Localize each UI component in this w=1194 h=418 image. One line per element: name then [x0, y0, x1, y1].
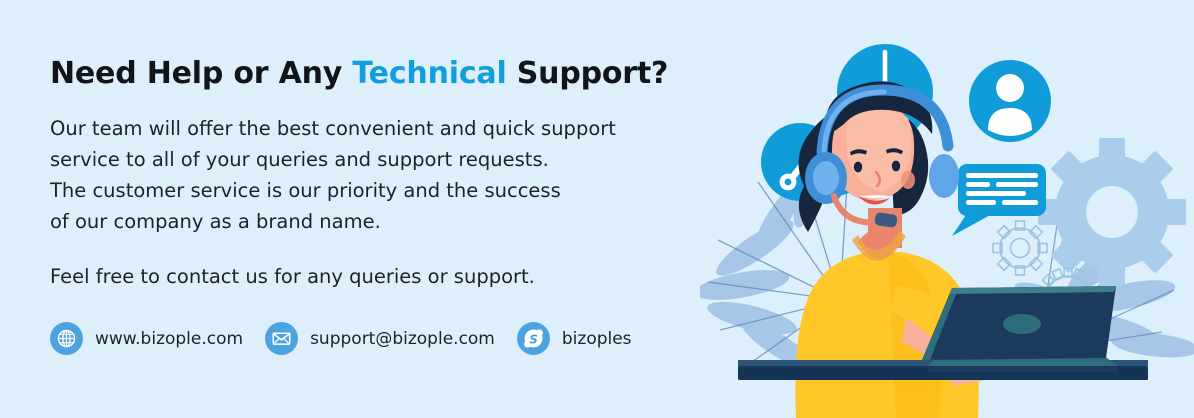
skype-icon: S: [517, 322, 550, 355]
svg-text:S: S: [529, 332, 538, 346]
cta-paragraph: Feel free to contact us for any queries …: [50, 261, 740, 292]
description-paragraph: Our team will offer the best convenient …: [50, 113, 740, 237]
globe-icon: [50, 322, 83, 355]
page-title: Need Help or Any Technical Support?: [50, 56, 740, 91]
description-line-2: service to all of your queries and suppo…: [50, 148, 549, 171]
user-avatar-icon: [969, 60, 1051, 142]
page-title-accent: Technical: [352, 56, 506, 91]
page-title-part1: Need Help or Any: [50, 56, 352, 91]
gear-large-icon: [1038, 138, 1186, 286]
page-title-part2: Support?: [507, 56, 669, 91]
description-line-1: Our team will offer the best convenient …: [50, 117, 616, 140]
illustration-canvas: [700, 0, 1194, 418]
contact-item-website[interactable]: www.bizople.com: [50, 322, 243, 355]
headset-earcup-right: [929, 154, 959, 198]
support-illustration: [700, 0, 1194, 418]
contact-item-email[interactable]: support@bizople.com: [265, 322, 495, 355]
headset-earcup-left-inner: [813, 161, 839, 195]
contact-label-website: www.bizople.com: [95, 329, 243, 349]
contact-label-skype: bizoples: [562, 329, 632, 349]
contact-label-email: support@bizople.com: [310, 329, 495, 349]
laptop-logo: [1003, 314, 1041, 334]
chat-bubble-icon: [952, 164, 1046, 236]
description-line-4: of our company as a brand name.: [50, 210, 381, 233]
gear-small-outline-icon: [993, 221, 1047, 275]
contact-item-skype[interactable]: S bizoples: [517, 322, 632, 355]
support-banner: Need Help or Any Technical Support? Our …: [0, 0, 1194, 418]
text-column: Need Help or Any Technical Support? Our …: [50, 56, 740, 292]
description-line-3: The customer service is our priority and…: [50, 179, 561, 202]
laptop-base-edge: [928, 366, 1118, 372]
envelope-icon: [265, 322, 298, 355]
laptop: [922, 286, 1118, 372]
contact-row: www.bizople.com support@bizople.com: [50, 322, 654, 355]
